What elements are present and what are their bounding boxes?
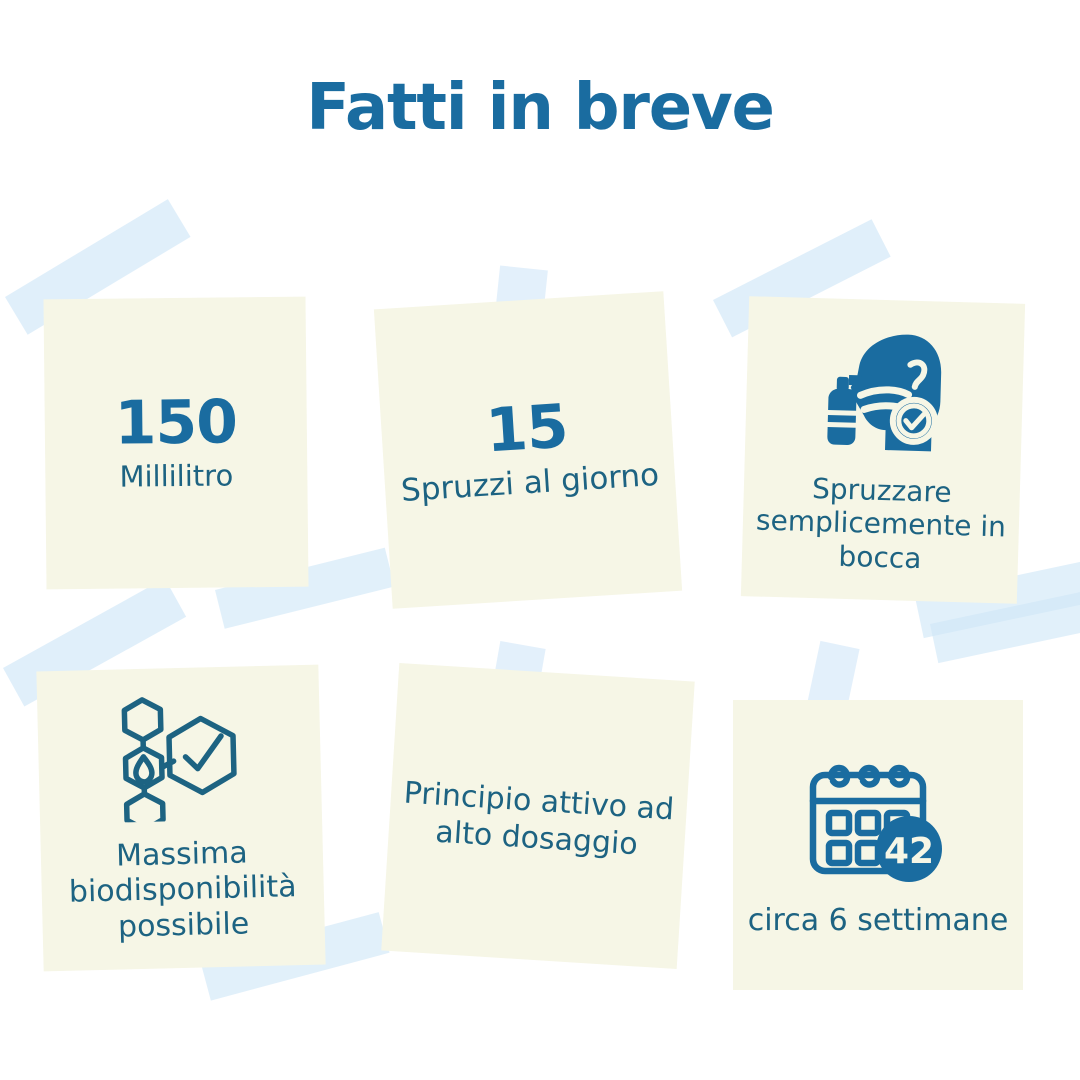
card-label: Spruzzi al giorno <box>388 456 672 510</box>
badge-42-text: 42 <box>884 831 934 872</box>
card-label: Massima biodisponibilità possibile <box>41 833 326 946</box>
fact-card-duration: 42 circa 6 settimane <box>733 700 1023 990</box>
fact-card-application: Spruzzare semplicemente in bocca <box>741 296 1025 604</box>
infographic-page: Fatti in breve 150 Millilitro 15 Spruzzi… <box>0 0 1080 1080</box>
card-label: Principio attivo ad alto dosaggio <box>388 775 688 867</box>
molecule-check-icon <box>108 691 251 822</box>
fact-card-sprays-per-day: 15 Spruzzi al giorno <box>374 291 682 609</box>
card-label: Spruzzare semplicemente in bocca <box>742 471 1021 578</box>
fact-card-bioavailability: Massima biodisponibilità possibile <box>36 665 325 972</box>
card-label: Millilitro <box>107 458 245 494</box>
stat-number: 15 <box>484 396 569 461</box>
fact-card-dosage: Principio attivo ad alto dosaggio <box>381 663 694 969</box>
mouth-spray-icon <box>813 325 957 461</box>
page-title: Fatti in breve <box>0 76 1080 140</box>
fact-card-volume: 150 Millilitro <box>43 297 308 590</box>
calendar-icon: 42 <box>803 751 953 887</box>
card-label: circa 6 settimane <box>736 903 1021 938</box>
stat-number: 150 <box>114 392 237 453</box>
